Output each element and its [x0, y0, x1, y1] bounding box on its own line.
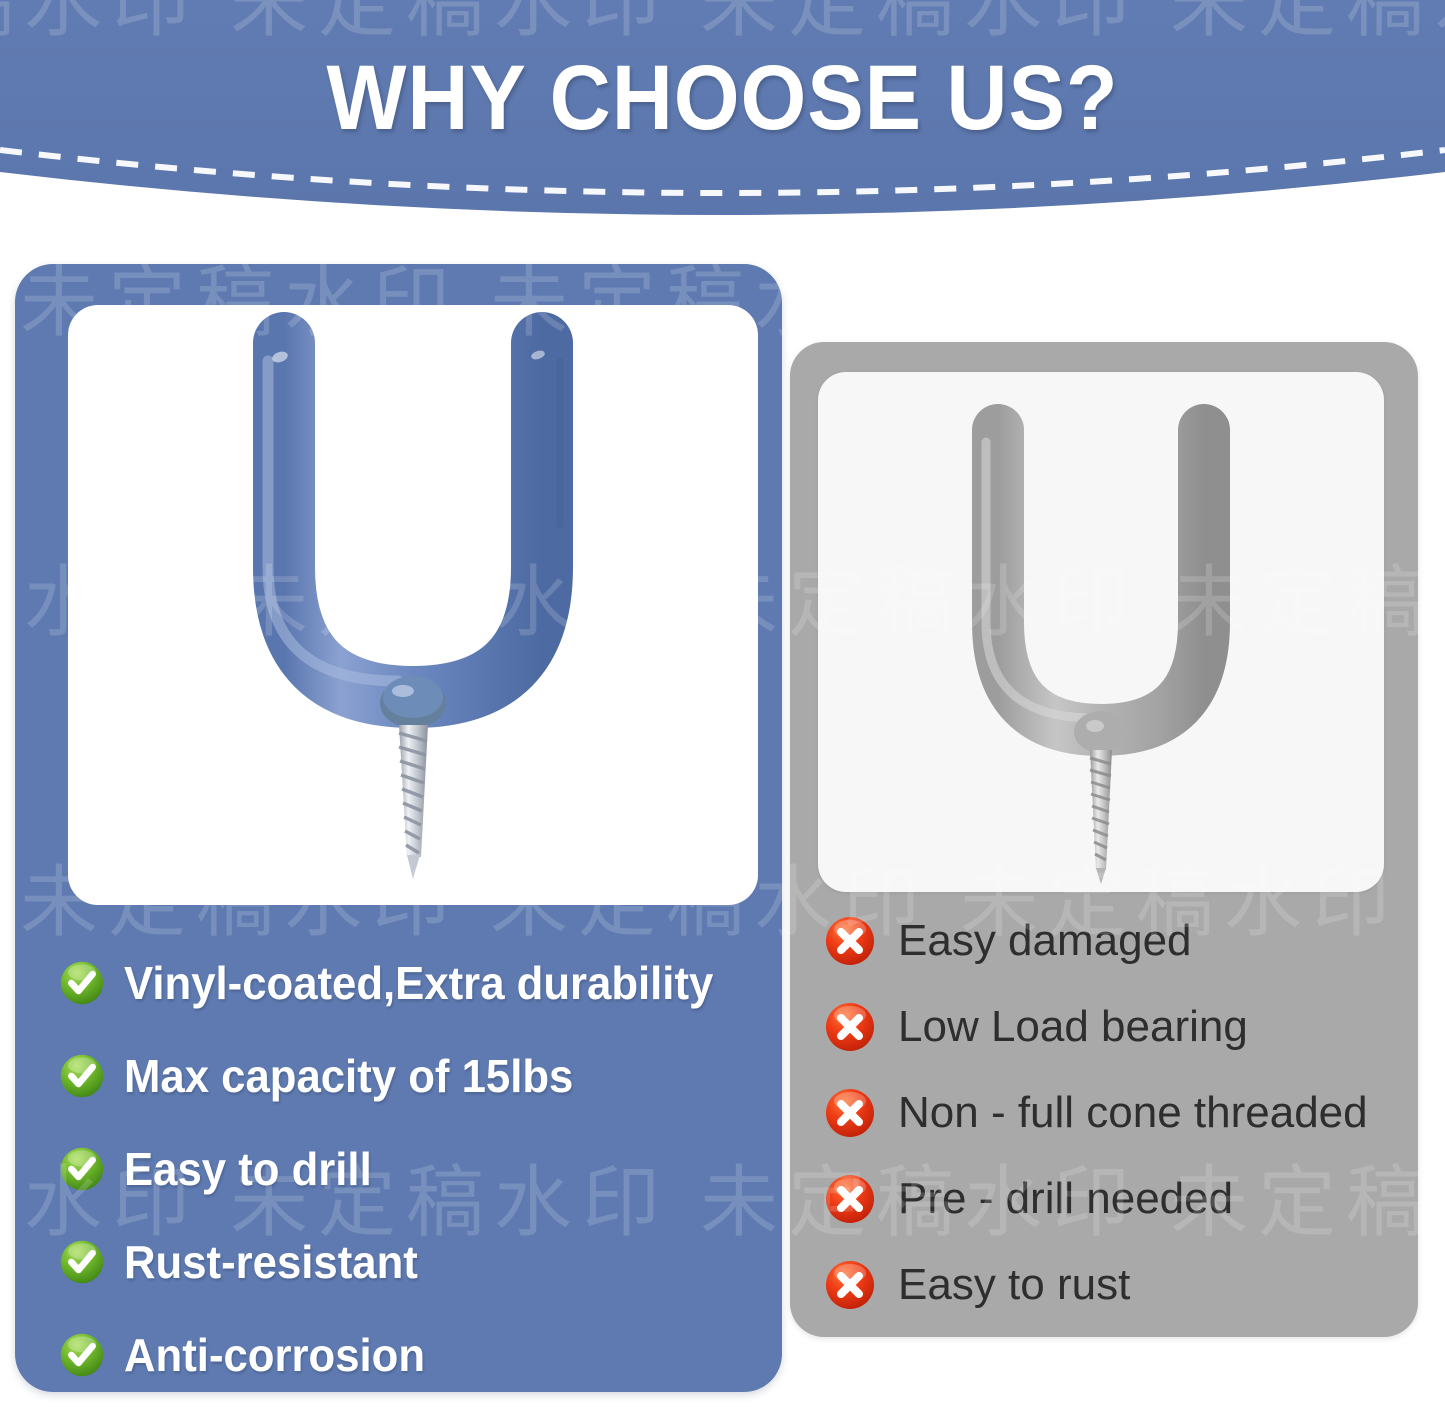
watermark-text: 未定稿水印: [1430, 240, 1445, 352]
cons-panel: Easy damaged Low Load bearing Non - full…: [790, 342, 1418, 1337]
list-item: Easy to rust: [824, 1242, 1404, 1328]
pros-feature-list: Vinyl-coated,Extra durability Max capaci…: [59, 936, 772, 1401]
x-circle-icon: [824, 1087, 876, 1139]
pros-product-image-card: [68, 305, 758, 905]
list-item-label: Easy to drill: [124, 1146, 372, 1192]
list-item-label: Vinyl-coated,Extra durability: [124, 960, 713, 1006]
list-item-label: Easy to rust: [898, 1263, 1130, 1307]
page-title: WHY CHOOSE US?: [58, 46, 1387, 151]
list-item: Rust-resistant: [59, 1215, 772, 1308]
list-item: Anti-corrosion: [59, 1308, 772, 1401]
list-item-label: Rust-resistant: [124, 1239, 418, 1285]
list-item: Low Load bearing: [824, 984, 1404, 1070]
list-item-label: Low Load bearing: [898, 1005, 1248, 1049]
x-circle-icon: [824, 1259, 876, 1311]
check-circle-icon: [59, 1146, 105, 1192]
list-item-label: Max capacity of 15lbs: [124, 1053, 573, 1099]
list-item: Easy damaged: [824, 898, 1404, 984]
check-circle-icon: [59, 1332, 105, 1378]
list-item-label: Anti-corrosion: [124, 1332, 425, 1378]
list-item: Pre - drill needed: [824, 1156, 1404, 1242]
check-circle-icon: [59, 1239, 105, 1285]
watermark-text: 未定稿水印: [960, 240, 1400, 352]
check-circle-icon: [59, 960, 105, 1006]
list-item: Easy to drill: [59, 1122, 772, 1215]
list-item-label: Easy damaged: [898, 919, 1192, 963]
cons-product-image-card: [818, 372, 1384, 892]
x-circle-icon: [824, 1001, 876, 1053]
list-item-label: Non - full cone threaded: [898, 1091, 1368, 1135]
x-circle-icon: [824, 1173, 876, 1225]
gray-plain-u-hook-image: [818, 372, 1384, 892]
blue-vinyl-coated-u-hook-image: [68, 305, 758, 905]
list-item: Vinyl-coated,Extra durability: [59, 936, 772, 1029]
check-circle-icon: [59, 1053, 105, 1099]
cons-feature-list: Easy damaged Low Load bearing Non - full…: [824, 898, 1404, 1328]
list-item: Max capacity of 15lbs: [59, 1029, 772, 1122]
watermark-text: 未定稿水印: [1430, 840, 1445, 952]
x-circle-icon: [824, 915, 876, 967]
pros-panel: Vinyl-coated,Extra durability Max capaci…: [15, 264, 782, 1392]
list-item: Non - full cone threaded: [824, 1070, 1404, 1156]
list-item-label: Pre - drill needed: [898, 1177, 1233, 1221]
